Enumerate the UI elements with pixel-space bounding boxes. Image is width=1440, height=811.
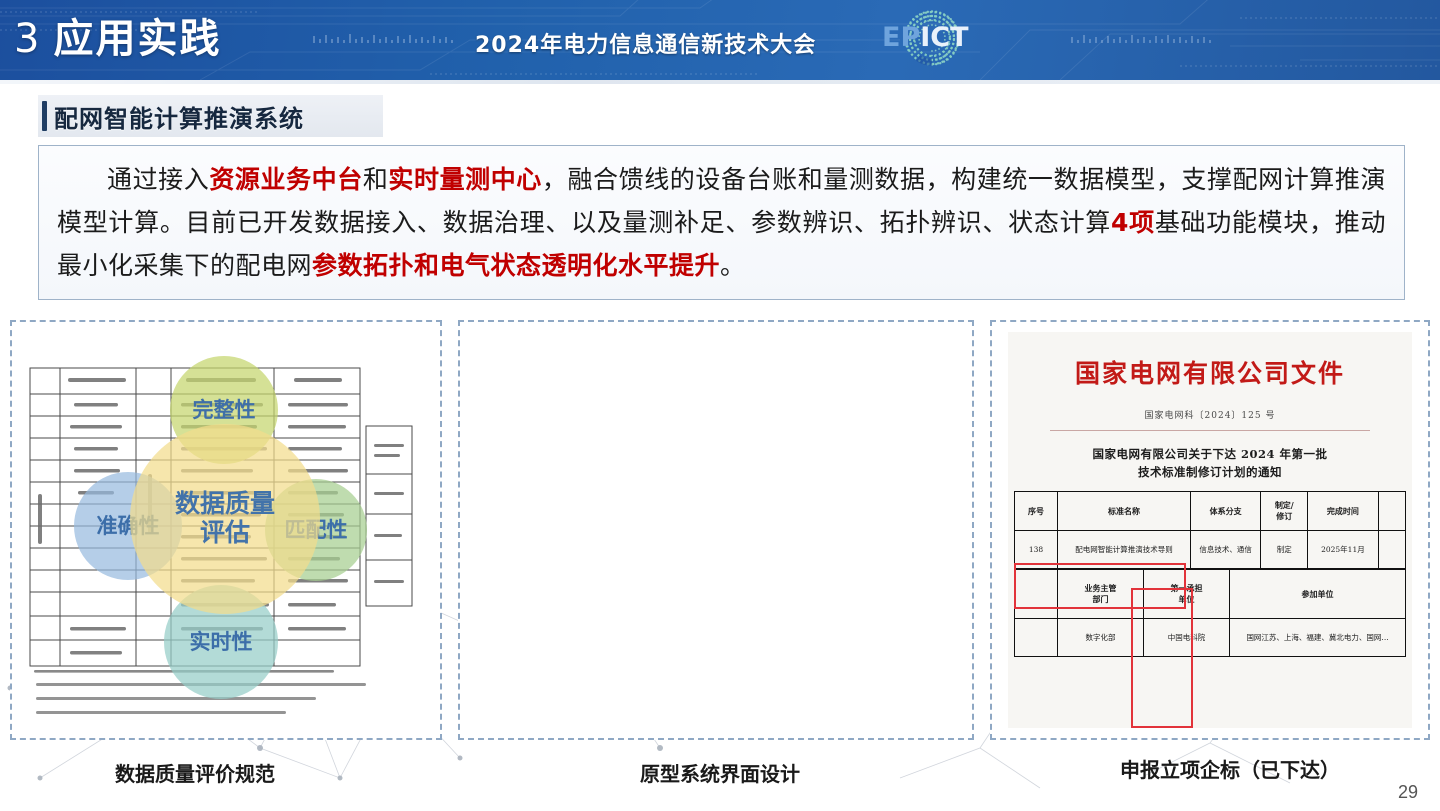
para-highlight-1: 资源业务中台 — [209, 165, 362, 194]
standard-plan-table: 序号 标准名称 体系分支 制定/ 修订 完成时间 138 配电网智能计算推演技术… — [1014, 491, 1406, 569]
tick-decoration-left — [312, 33, 462, 47]
td-branch: 信息技术、通信 — [1190, 531, 1260, 569]
th-branch: 体系分支 — [1190, 492, 1260, 531]
epict-logo: EPICT — [882, 22, 969, 53]
doc-subject: 国家电网有限公司关于下达 2024 年第一批 技术标准制修订计划的通知 — [1008, 445, 1412, 481]
caption-prototype-ui: 原型系统界面设计 — [640, 758, 800, 787]
subsection-title-box: 配网智能计算推演系统 — [38, 95, 383, 137]
th-deadline: 完成时间 — [1308, 492, 1378, 531]
section-title-text: 应用实践 — [53, 16, 221, 62]
para-highlight-3: 4项 — [1111, 208, 1155, 237]
subsection-title-text: 配网智能计算推演系统 — [54, 99, 304, 134]
caption-enterprise-standard: 申报立项企标（已下达） — [1120, 754, 1340, 783]
panel-data-quality-spec: 完整性 准确性 匹配性 实时性 数据质量 评估 — [10, 320, 442, 740]
td-participants: 国网江苏、上海、福建、冀北电力、国网... — [1230, 619, 1406, 657]
para-seg-1: 通过接入 — [107, 165, 209, 194]
td-type: 制定 — [1261, 531, 1308, 569]
epict-logo-ep: EP — [882, 22, 920, 53]
official-document-image: 国家电网有限公司文件 国家电网科〔2024〕125 号 国家电网有限公司关于下达… — [1008, 332, 1412, 728]
para-seg-5: 。 — [720, 251, 746, 280]
th-participants: 参加单位 — [1230, 570, 1406, 619]
doc-number: 国家电网科〔2024〕125 号 — [1008, 408, 1412, 421]
tick-decoration-right — [1070, 33, 1220, 47]
section-title: 3应用实践 — [14, 12, 221, 66]
highlight-box-lead-unit — [1131, 588, 1193, 728]
data-quality-venn-diagram: 完整性 准确性 匹配性 实时性 数据质量 评估 — [12, 322, 440, 738]
owner-row: 数字化部 中国电科院 国网江苏、上海、福建、冀北电力、国网... — [1015, 619, 1406, 657]
th-name: 标准名称 — [1058, 492, 1191, 531]
th-type: 制定/ 修订 — [1261, 492, 1308, 531]
description-box: 通过接入资源业务中台和实时量测中心，融合馈线的设备台账和量测数据，构建统一数据模… — [38, 145, 1405, 300]
conference-title: 2024年电力信息通信新技术大会 — [475, 27, 816, 59]
page-number: 29 — [1398, 782, 1418, 803]
td-deadline: 2025年11月 — [1308, 531, 1378, 569]
venn-circle-center: 数据质量 评估 — [130, 424, 320, 614]
section-number: 3 — [14, 16, 41, 62]
doc-subject-line2: 技术标准制修订计划的通知 — [1008, 463, 1412, 481]
th-extra — [1378, 492, 1405, 531]
td-blank2 — [1015, 619, 1058, 657]
th-seq: 序号 — [1015, 492, 1058, 531]
panel-prototype-ui-design — [458, 320, 974, 740]
para-seg-2: 和 — [363, 165, 389, 194]
doc-subject-line1: 国家电网有限公司关于下达 2024 年第一批 — [1008, 445, 1412, 463]
para-highlight-4: 参数拓扑和电气状态透明化水平提升 — [312, 251, 720, 280]
table-header-row: 序号 标准名称 体系分支 制定/ 修订 完成时间 — [1015, 492, 1406, 531]
doc-divider — [1050, 430, 1370, 431]
para-highlight-2: 实时量测中心 — [388, 165, 541, 194]
subsection-accent-bar — [42, 101, 47, 131]
header-underline — [0, 80, 1440, 84]
doc-title: 国家电网有限公司文件 — [1008, 354, 1412, 390]
description-paragraph: 通过接入资源业务中台和实时量测中心，融合馈线的设备台账和量测数据，构建统一数据模… — [57, 158, 1386, 287]
td-extra — [1378, 531, 1405, 569]
epict-logo-ict: ICT — [920, 22, 968, 53]
caption-data-quality-spec: 数据质量评价规范 — [115, 758, 275, 787]
slide-header: 3应用实践 2024年电力信息通信新技术大会 EPICT — [0, 0, 1440, 80]
